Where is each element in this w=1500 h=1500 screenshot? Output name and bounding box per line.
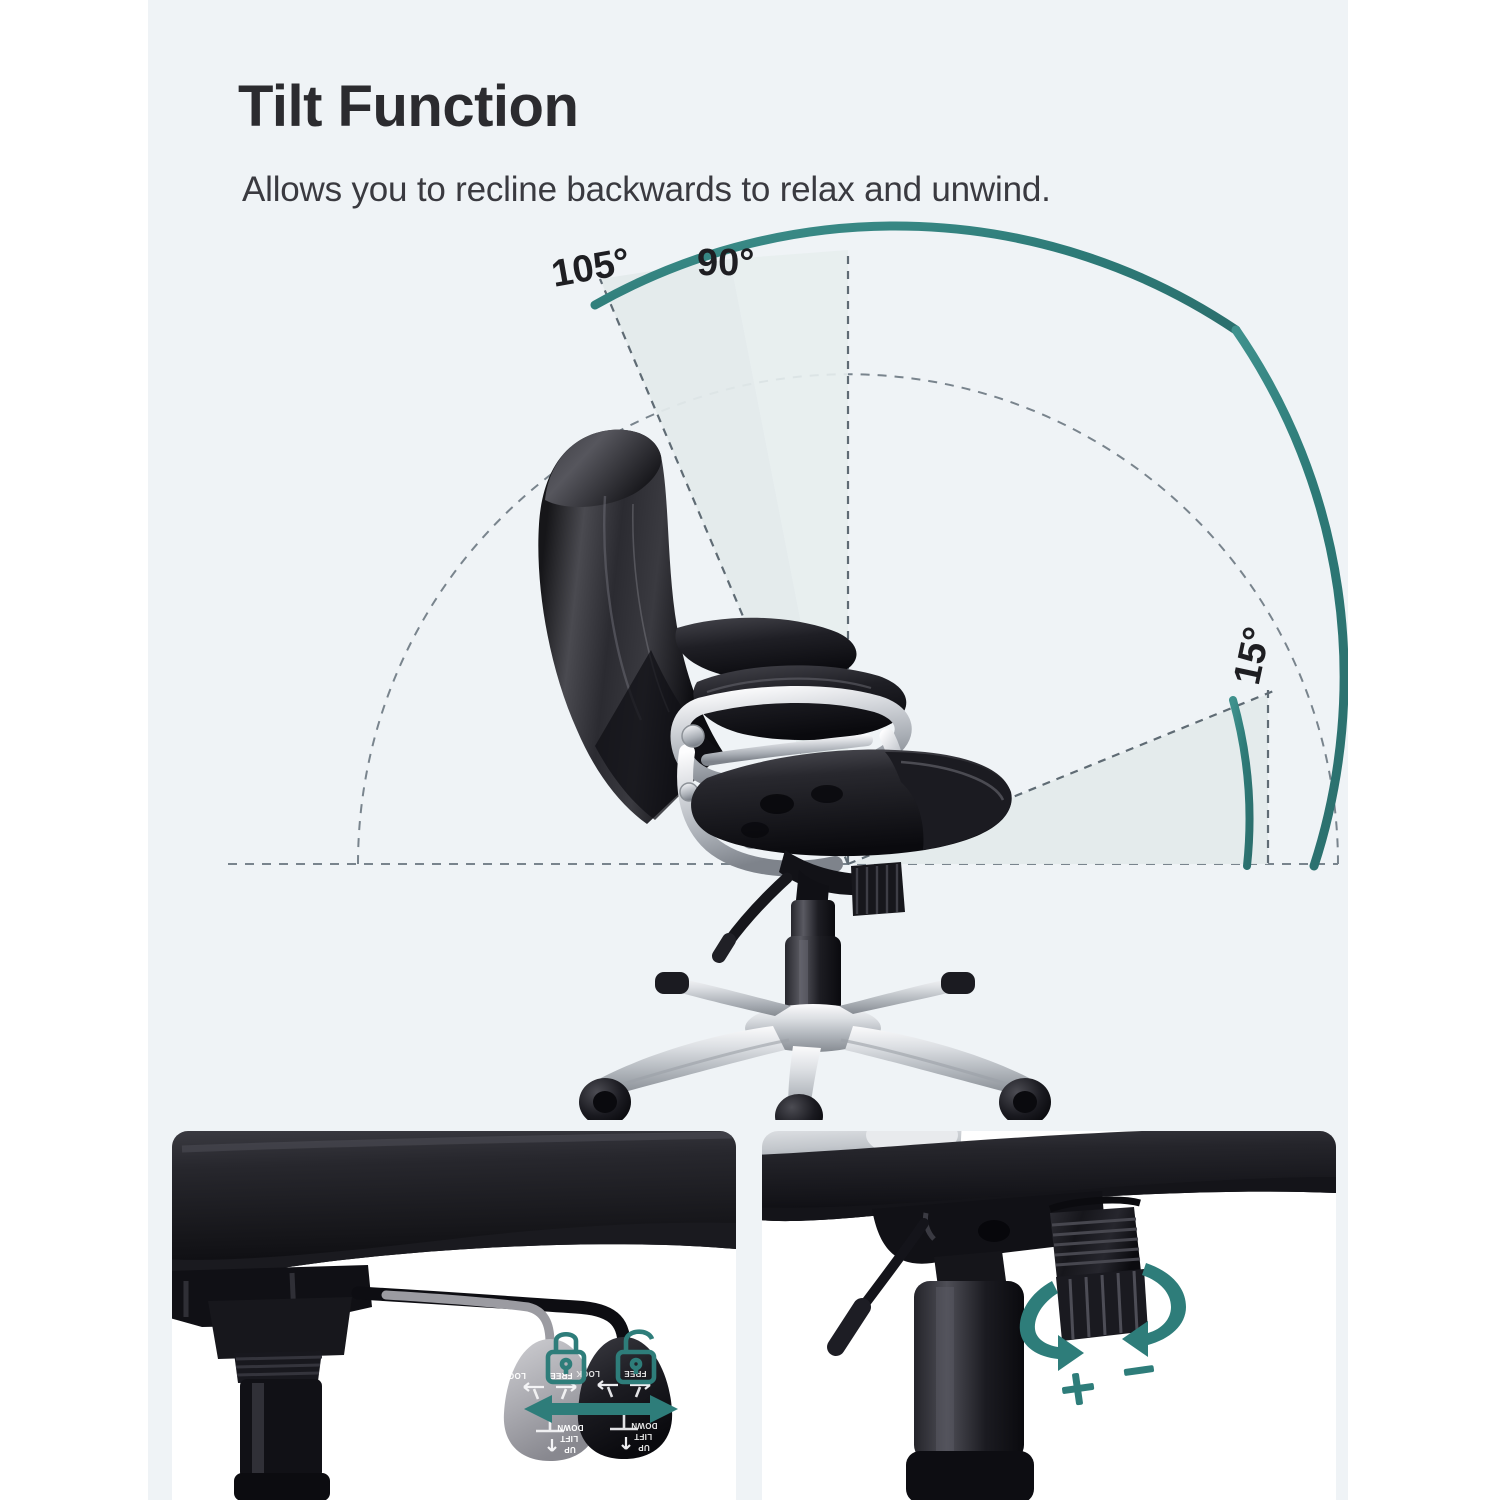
knob-black-lock-label: LOCK	[576, 1369, 600, 1377]
lever-knob-black	[578, 1337, 672, 1459]
knob-black-lift-label: LIFT	[634, 1432, 652, 1440]
caster-front	[775, 1094, 823, 1120]
angle-label-90: 90°	[697, 244, 754, 282]
gas-cylinder-upper	[791, 900, 835, 942]
gas-column	[234, 1351, 330, 1500]
plate-hole	[978, 1220, 1010, 1242]
office-chair-illustration	[455, 400, 1105, 1120]
tilt-lever-tip	[719, 940, 729, 956]
column-highlight	[936, 1287, 954, 1455]
tilt-lever-grip	[836, 1307, 862, 1347]
mechanism-housing	[208, 1297, 352, 1359]
seat-tuft-2	[811, 785, 843, 803]
tilt-lock-lever-illustration	[172, 1131, 736, 1500]
column-base	[906, 1451, 1034, 1500]
caster-rear-left	[655, 972, 689, 994]
knob-black-free-label: FREE	[624, 1369, 647, 1377]
knob-grey-lock-label: LOCK	[502, 1371, 526, 1379]
knob-black-up-label: UP	[638, 1443, 650, 1451]
tension-knob-illustration	[762, 1131, 1336, 1500]
seat-tuft-3	[741, 822, 769, 838]
caster-rear-right	[941, 972, 975, 994]
seat-underside	[172, 1131, 736, 1279]
tilt-lever	[727, 878, 787, 944]
knob-grey-up-label: UP	[564, 1445, 576, 1453]
knob-grey-down-label: DOWN	[557, 1423, 584, 1431]
tension-knob	[851, 862, 905, 916]
knob-grey-free-label: FREE	[550, 1371, 573, 1379]
knob-black-down-label: DOWN	[631, 1421, 658, 1429]
armrest-pivot-bolt-a	[682, 725, 704, 747]
tilt-lock-lever-panel: LOCK FREE DOWN LIFT UP LOCK FREE DOWN LI…	[172, 1131, 736, 1500]
gas-column	[914, 1281, 1024, 1461]
plus-symbol	[1062, 1373, 1095, 1406]
tension-knob	[1050, 1200, 1148, 1341]
tension-knob-panel	[762, 1131, 1336, 1500]
knob-grey-lift-label: LIFT	[560, 1434, 578, 1442]
minus-symbol	[1124, 1365, 1155, 1376]
seat-tuft-1	[760, 794, 794, 814]
infographic-root: Tilt Function Allows you to recline back…	[0, 0, 1500, 1500]
